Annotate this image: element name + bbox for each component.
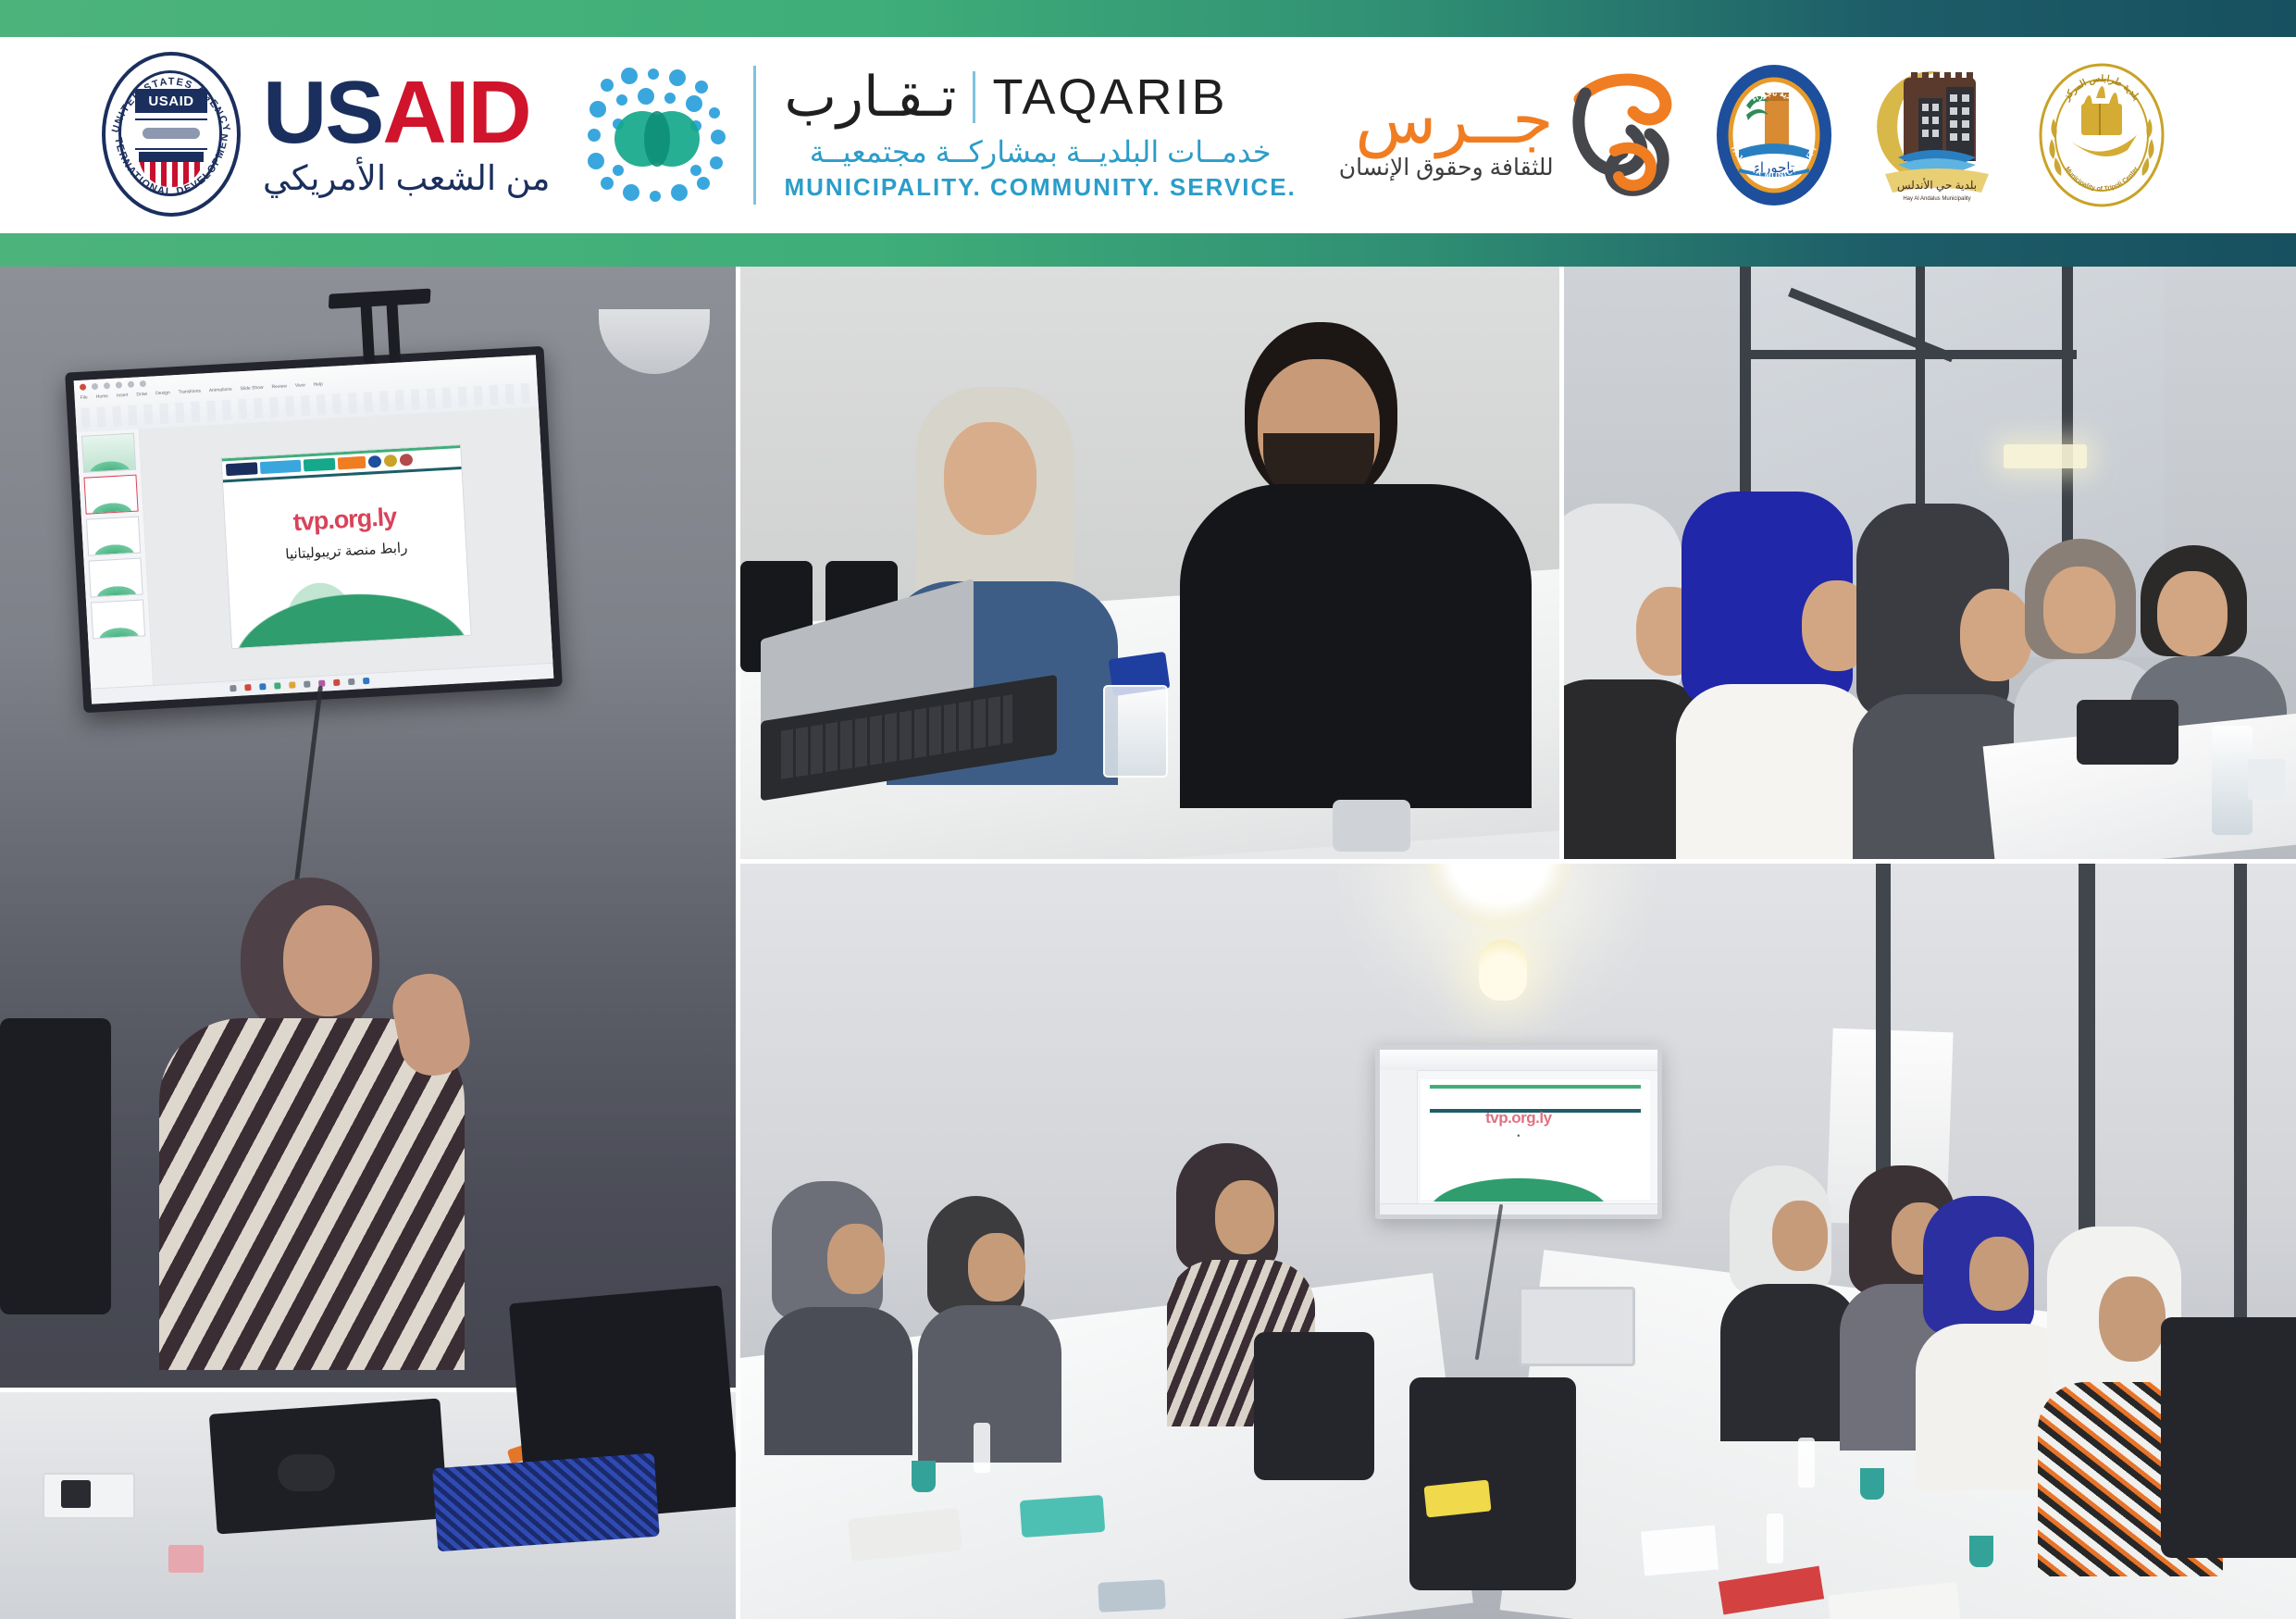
header-banner: USAID UNITED STATES AGENCY INTERNATIONAL… [0, 0, 2296, 267]
person-5-face [2157, 571, 2228, 656]
photo-audience-women [1564, 267, 2296, 859]
coffee-cup-2 [1860, 1468, 1884, 1500]
tripoli-center-municipality-seal-icon: بلدية طرابلس المركز Municipality of Trip… [2037, 61, 2166, 209]
white-printer [1519, 1287, 1635, 1366]
coffee-cup-3 [1969, 1536, 1993, 1567]
tv-cable [292, 686, 323, 898]
photo-presenter-and-screen: FileHomeInsertDrawDesignTransitionsAnima… [0, 267, 736, 1619]
partition-mullion-horizontal [1740, 350, 2077, 359]
slide-caption-arabic: رابط منصة تريبوليتانيا [227, 535, 466, 565]
wall-mounted-tv: FileHomeInsertDrawDesignTransitionsAnima… [65, 346, 563, 713]
slide-hill-graphic [220, 572, 471, 649]
presenter-person [102, 878, 509, 1359]
person-2-body [1676, 684, 1875, 859]
slide-logo-header [222, 445, 462, 482]
tv-taskbar [1380, 1203, 1657, 1214]
water-bottle-3 [1767, 1513, 1783, 1563]
hay-alandalus-municipality-seal-icon: بلدية حي الأندلس Hay Al Andalus Municipa… [1867, 61, 2005, 209]
header-top-green-bar [0, 0, 2296, 37]
svg-text:بلدية حي الأندلس: بلدية حي الأندلس [1897, 178, 1977, 192]
training-room-tv: tvp.org.ly • [1375, 1045, 1662, 1219]
hanging-bulb [1479, 940, 1527, 1001]
trainee-right-1-body [1720, 1284, 1859, 1441]
usaid-seal-icon: USAID UNITED STATES AGENCY INTERNATIONAL… [102, 52, 242, 218]
usaid-logo: USAID UNITED STATES AGENCY INTERNATIONAL… [102, 52, 550, 218]
teal-pouch [1019, 1495, 1105, 1538]
poster-page: USAID UNITED STATES AGENCY INTERNATIONAL… [0, 0, 2296, 1619]
ceiling-lamp [599, 309, 710, 374]
photo-training-room: tvp.org.ly • [740, 864, 2296, 1619]
paper-sheet-1 [1641, 1526, 1719, 1576]
participant-woman-face [944, 422, 1036, 535]
trainee-left-1-face [827, 1224, 885, 1294]
phone-screen [61, 1480, 91, 1508]
jars-swirl-icon [1561, 66, 1682, 205]
usaid-seal-text: UNITED STATES AGENCY INTERNATIONAL DEVEL… [102, 52, 241, 217]
trainee-left-1-body [764, 1307, 912, 1455]
jars-subtitle-arabic: للثقافة وحقوق الإنسان [1339, 154, 1554, 181]
usaid-wordmark: USAID من الشعب الأمريكي [263, 72, 550, 197]
tv-slide-url: tvp.org.ly [1380, 1109, 1657, 1127]
tv-app-ribbon [1380, 1050, 1657, 1071]
taqarib-subtitle-english: MUNICIPALITY. COMMUNITY. SERVICE. [784, 173, 1296, 202]
water-bottle-on-table [2212, 726, 2253, 835]
water-glass [1103, 685, 1168, 778]
photo-two-participants [740, 267, 1559, 859]
photo-collage: FileHomeInsertDrawDesignTransitionsAnima… [0, 267, 2296, 1619]
trainee-right-3-face [1969, 1237, 2029, 1311]
blue-sparkle-mat [432, 1453, 660, 1552]
trainee-right-4-face [2099, 1277, 2166, 1362]
jars-title-arabic: جــرس [1355, 89, 1553, 152]
taqarib-subtitle-arabic: خدمــات البلديــة بمشاركــة مجتمعيــة [784, 134, 1296, 169]
svg-text:UNITED STATES AGENCY: UNITED STATES AGENCY [110, 76, 232, 133]
svg-text:Municipality of Tripoli Center: Municipality of Tripoli Center [2063, 166, 2139, 193]
trainee-left-2-face [968, 1233, 1025, 1301]
tv-slide-hill [1408, 1170, 1630, 1202]
coffee-cup-1 [912, 1461, 936, 1492]
participant-man [1161, 322, 1559, 803]
chair-far-right [2161, 1317, 2296, 1558]
usaid-tagline-arabic: من الشعب الأمريكي [263, 158, 550, 198]
participant-man-tshirt [1180, 484, 1532, 808]
water-bottle-1 [974, 1423, 990, 1473]
laptop-on-table [761, 609, 1066, 794]
header-bottom-green-bar [0, 233, 2296, 267]
taqarib-title-divider [973, 71, 975, 123]
trainee-left-3-face [1215, 1180, 1274, 1254]
tajoura-municipality-seal-icon: تاجوراء بلدية تاجوراء TAJOURA MUNICIPALI… [1713, 61, 1835, 209]
svg-text:Hay Al Andalus Municipality: Hay Al Andalus Municipality [1903, 196, 1970, 202]
taqarib-title-english: TAQARIB [992, 72, 1227, 122]
person-4-face [2043, 567, 2116, 654]
trainee-left-2 [927, 1196, 1057, 1528]
paper-cup [2248, 759, 2285, 800]
trainee-right-1-face [1772, 1201, 1828, 1271]
powerpoint-body: tvp.org.ly رابط منصة تريبوليتانيا [77, 406, 553, 689]
logo-strip: USAID UNITED STATES AGENCY INTERNATIONAL… [0, 37, 2296, 233]
trainee-left-1 [772, 1181, 911, 1528]
chair-back-left [1254, 1332, 1374, 1480]
taqarib-dots-icon [587, 61, 726, 209]
slide-url-text: tvp.org.ly [225, 498, 465, 540]
face-mask-on-table [1333, 800, 1410, 852]
current-slide: tvp.org.ly رابط منصة تريبوليتانيا [220, 443, 471, 648]
jars-logo: جــرس للثقافة وحقوق الإنسان [1297, 66, 1682, 205]
trainee-right-1 [1720, 1165, 1859, 1513]
empty-chair-center [1409, 1377, 1576, 1590]
usaid-wordmark-us: US [263, 63, 382, 162]
water-bottle-2 [1798, 1438, 1815, 1488]
taqarib-title-arabic: تـقـارب [784, 69, 956, 125]
tv-slide-caption: • [1380, 1131, 1657, 1140]
grey-case [1098, 1579, 1166, 1613]
tv-screen: FileHomeInsertDrawDesignTransitionsAnima… [74, 355, 554, 704]
ceiling-light [2004, 444, 2087, 468]
taqarib-divider [753, 66, 756, 205]
usaid-wordmark-aid: AID [382, 63, 529, 162]
eraser [168, 1545, 204, 1573]
office-chair [0, 1018, 111, 1314]
presenter-face [283, 905, 372, 1016]
room-partition-vertical-3 [2234, 864, 2247, 1392]
computer-mouse [278, 1454, 335, 1491]
taqarib-logo: تـقـارب TAQARIB خدمــات البلديــة بمشارك… [550, 61, 1296, 209]
handbag [2077, 700, 2178, 765]
